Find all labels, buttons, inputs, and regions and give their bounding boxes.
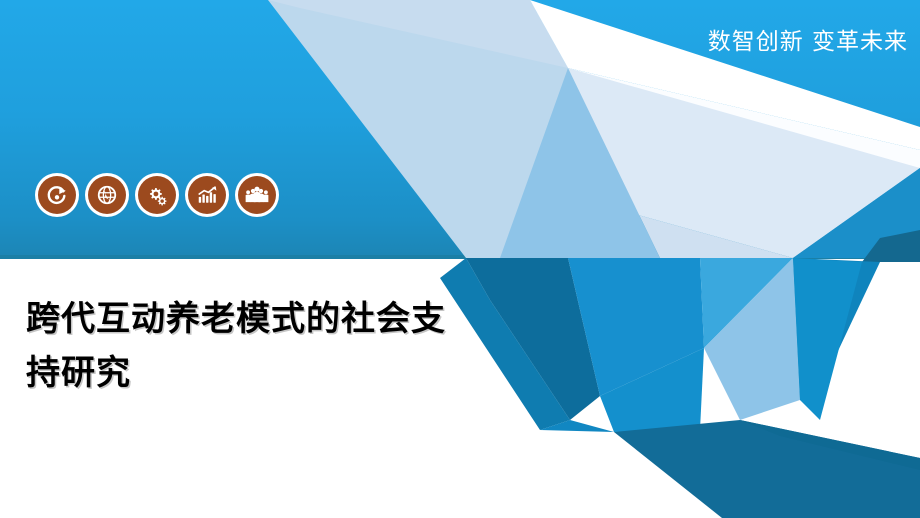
refresh-cycle-glyph bbox=[46, 184, 68, 206]
slide-tagline: 数智创新 变革未来 bbox=[708, 27, 908, 57]
slide-title-line-1: 跨代互动养老模式的社会支 bbox=[26, 292, 546, 346]
globe-icon[interactable] bbox=[88, 176, 126, 214]
bar-chart-growth-icon[interactable] bbox=[188, 176, 226, 214]
gears-icon[interactable] bbox=[138, 176, 176, 214]
people-group-icon[interactable] bbox=[238, 176, 276, 214]
globe-glyph bbox=[96, 184, 118, 206]
decorative-polygon-artwork bbox=[0, 0, 920, 518]
bar-chart-growth-glyph bbox=[196, 184, 218, 206]
slide-title: 跨代互动养老模式的社会支 持研究 bbox=[26, 292, 546, 400]
poly-right-deep2 bbox=[793, 258, 862, 420]
feature-icon-row bbox=[38, 176, 276, 214]
poly-bottom-ribbon bbox=[614, 420, 920, 518]
gears-glyph bbox=[146, 184, 169, 207]
people-group-glyph bbox=[245, 184, 269, 206]
slide-canvas: 数智创新 变革未来 bbox=[0, 0, 920, 518]
refresh-cycle-icon[interactable] bbox=[38, 176, 76, 214]
slide-title-line-2: 持研究 bbox=[26, 346, 546, 400]
